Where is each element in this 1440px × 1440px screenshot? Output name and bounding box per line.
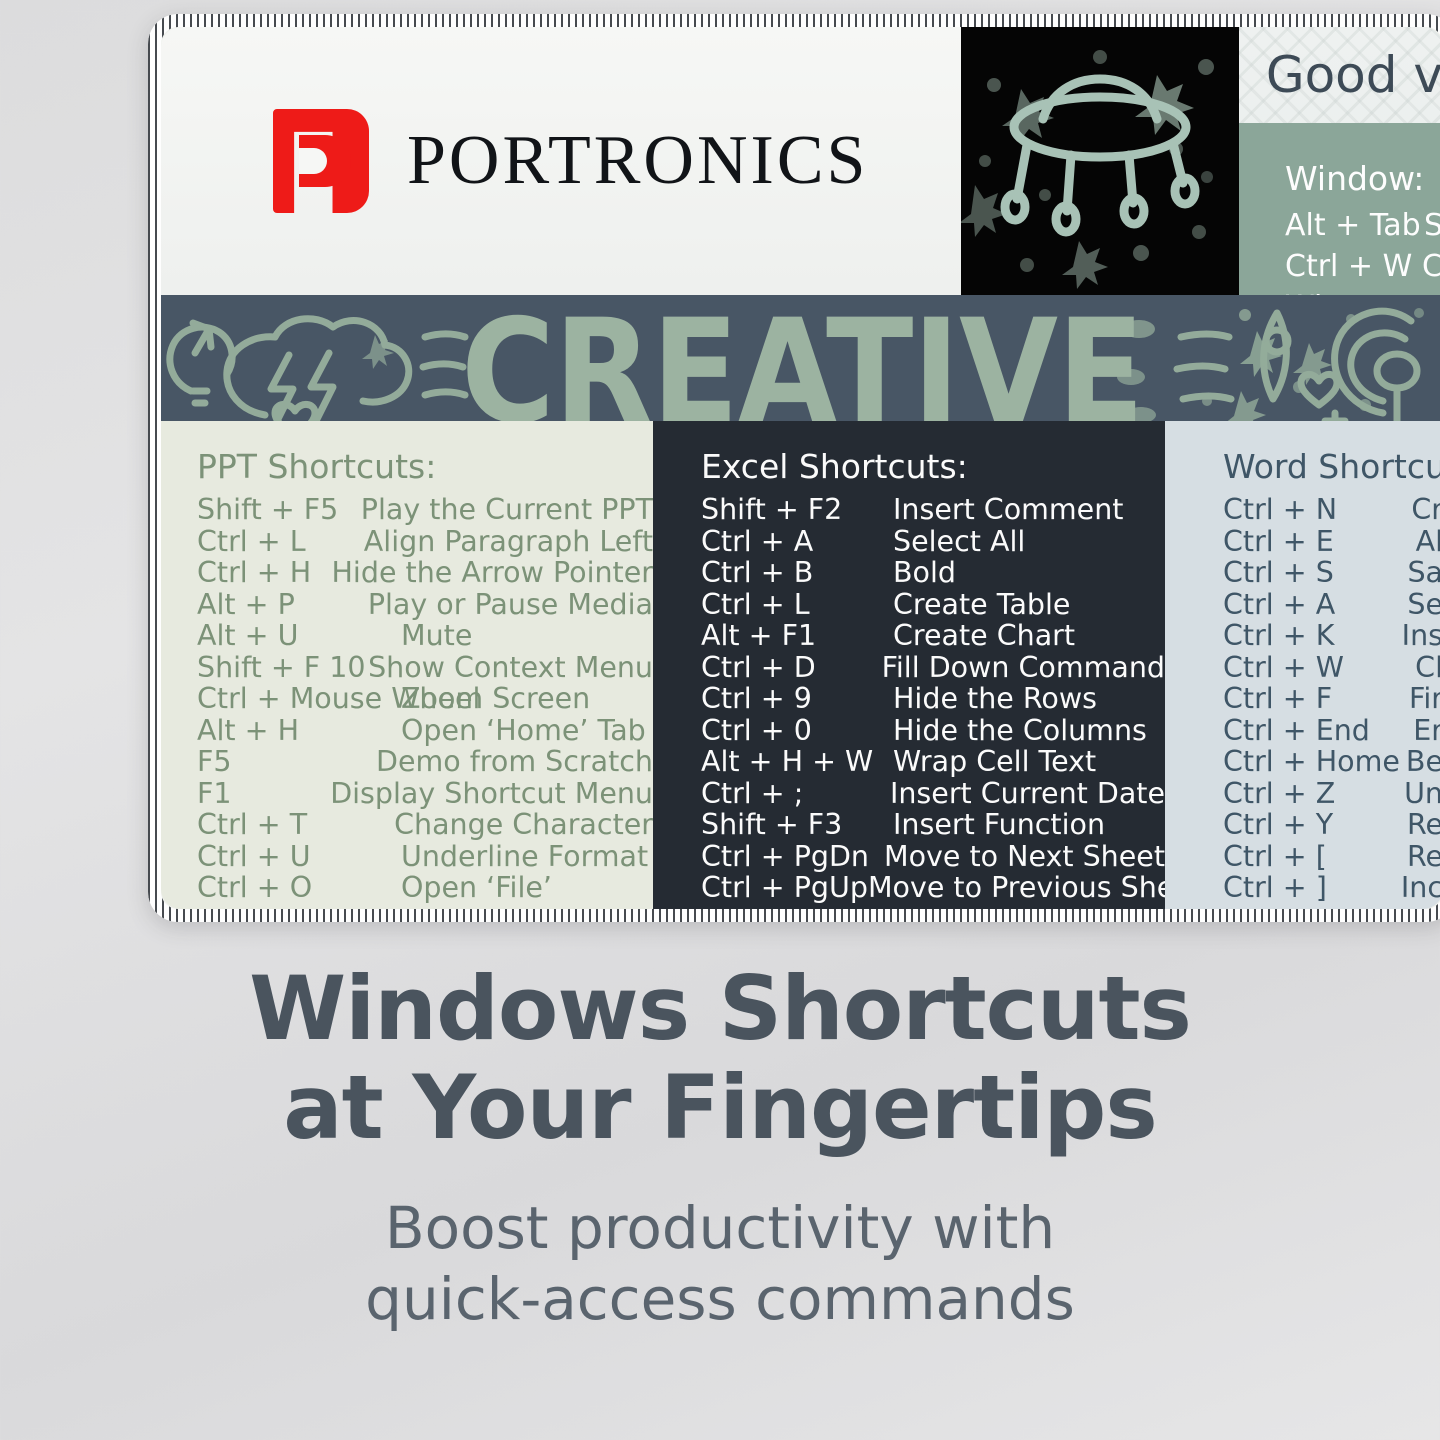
shortcut-keys: Shift + F5 xyxy=(197,496,361,525)
shortcut-keys: Ctrl + W xyxy=(1285,249,1422,284)
shortcut-action: Fill Down Command xyxy=(882,654,1165,683)
title-line-2: at Your Fingertips xyxy=(283,1056,1156,1159)
shortcut-keys: Alt + H xyxy=(197,717,401,746)
shortcut-row: Ctrl + HHide the Arrow Pointer xyxy=(197,559,653,588)
shortcut-row: Ctrl + ]Inc xyxy=(1223,874,1440,903)
shortcut-action: Demo from Scratch xyxy=(376,748,653,777)
shortcut-action: Play or Pause Media xyxy=(368,591,653,620)
shortcut-row: Ctrl + ASelect All xyxy=(701,528,1165,557)
shortcut-row: Ctrl + YRe xyxy=(1223,811,1440,840)
shortcut-action: Select All xyxy=(893,528,1025,557)
mousepad-product-image: PORTRONICS xyxy=(148,14,1440,922)
shortcut-action: Cr xyxy=(1411,496,1440,525)
shortcut-action: Move to Previous Sheet xyxy=(868,874,1165,903)
shortcut-action: Re xyxy=(1407,811,1440,840)
shortcut-keys: Alt + Tab xyxy=(1285,208,1424,243)
shortcut-action: Insert Current Date xyxy=(890,780,1165,809)
shortcut-keys: Ctrl + End xyxy=(1223,717,1413,746)
page-title: Windows Shortcuts at Your Fingertips xyxy=(0,960,1440,1157)
shortcut-keys: Ctrl + N xyxy=(1223,496,1411,525)
ppt-shortcut-rows: Shift + F5Play the Current PPTCtrl + LAl… xyxy=(161,496,653,903)
shortcut-row: Shift + F 10Show Context Menu xyxy=(197,654,653,683)
shortcut-row: Ctrl + KIns xyxy=(1223,622,1440,651)
shortcut-row: Ctrl + ZUn xyxy=(1223,780,1440,809)
shortcut-row: Ctrl + EndEr xyxy=(1223,717,1440,746)
shortcut-keys: Ctrl + H xyxy=(197,559,332,588)
shortcut-action: Underline Format xyxy=(401,843,648,872)
shortcut-action: Show Context Menu xyxy=(368,654,653,683)
creative-banner-word: CREATIVE xyxy=(461,295,1144,421)
shortcut-keys: Ctrl + W xyxy=(1223,654,1415,683)
shortcut-action: Open ‘File’ xyxy=(401,874,552,903)
shortcut-row: Ctrl + BBold xyxy=(701,559,1165,588)
shortcut-keys: Alt + U xyxy=(197,622,401,651)
shortcut-keys: Ctrl + U xyxy=(197,843,401,872)
shortcut-keys: Ctrl + B xyxy=(701,559,893,588)
shortcut-keys: Ctrl + ] xyxy=(1223,874,1401,903)
mousepad-printed-surface: PORTRONICS xyxy=(161,27,1440,909)
shortcut-row: Ctrl + ASe xyxy=(1223,591,1440,620)
window-panel-heading: Window: xyxy=(1285,159,1440,198)
shortcut-row: Alt + UMute xyxy=(197,622,653,651)
shortcut-row: Shift + F5Play the Current PPT xyxy=(197,496,653,525)
shortcut-keys: Ctrl + Home xyxy=(1223,748,1406,777)
portronics-p-logo-icon xyxy=(273,109,369,213)
shortcut-action: Align Paragraph Left xyxy=(364,528,653,557)
marketing-caption: Windows Shortcuts at Your Fingertips Boo… xyxy=(0,960,1440,1335)
shortcut-row: Ctrl + UUnderline Format xyxy=(197,843,653,872)
shortcut-row: F1Display Shortcut Menu xyxy=(197,780,653,809)
shortcut-keys: Ctrl + 9 xyxy=(701,685,893,714)
good-tile-title: Good v xyxy=(1252,46,1440,104)
title-line-1: Windows Shortcuts xyxy=(249,957,1191,1060)
shortcut-action: Create Table xyxy=(893,591,1070,620)
shortcut-row: Ctrl + FFir xyxy=(1223,685,1440,714)
shortcut-row: Shift + F2Insert Comment xyxy=(701,496,1165,525)
shortcut-row: Shift + F3Insert Function xyxy=(701,811,1165,840)
shortcut-keys: F1 xyxy=(197,780,330,809)
shortcut-keys: Ctrl + S xyxy=(1223,559,1407,588)
word-panel-heading: Word Shortcuts: xyxy=(1223,447,1440,486)
shortcut-action: Fir xyxy=(1409,685,1440,714)
shortcut-row: Ctrl + HomeBe xyxy=(1223,748,1440,777)
shortcut-keys: Ctrl + 0 xyxy=(701,717,893,746)
brand-logo-block: PORTRONICS xyxy=(161,27,961,295)
shortcut-keys: Ctrl + F xyxy=(1223,685,1409,714)
good-vibes-tile: Good v Window: Alt + TabSCtrl + WCWin + … xyxy=(1239,27,1440,295)
shortcut-row: Ctrl + TChange Character xyxy=(197,811,653,840)
shortcut-keys: Ctrl + ; xyxy=(701,780,890,809)
shortcut-action: Bold xyxy=(893,559,956,588)
shortcut-keys: Ctrl + A xyxy=(1223,591,1407,620)
shortcut-keys: Ctrl + Z xyxy=(1223,780,1404,809)
shortcut-keys: Shift + F2 xyxy=(701,496,893,525)
shortcut-keys: Ctrl + T xyxy=(197,811,394,840)
shortcut-action: Change Character xyxy=(394,811,653,840)
shortcut-action: Zoom Screen xyxy=(401,685,590,714)
creative-doodle-banner: CREATIVE xyxy=(161,295,1440,421)
shortcut-action: Sa xyxy=(1407,559,1440,588)
shortcut-row: Alt + TabS xyxy=(1285,208,1440,243)
shortcut-row: Ctrl + PgUpMove to Previous Sheet xyxy=(701,874,1165,903)
shortcut-action: Insert Function xyxy=(893,811,1105,840)
shortcut-action: Be xyxy=(1406,748,1440,777)
shortcut-action: Se xyxy=(1407,591,1440,620)
window-shortcuts-panel: Window: Alt + TabSCtrl + WCWin + ↑↓←→SAl… xyxy=(1239,123,1440,295)
shortcut-action: Wrap Cell Text xyxy=(893,748,1096,777)
excel-shortcuts-panel: Excel Shortcuts: Shift + F2Insert Commen… xyxy=(653,421,1165,909)
brand-name: PORTRONICS xyxy=(407,121,868,201)
shortcut-row: F5Demo from Scratch xyxy=(197,748,653,777)
shortcut-row: Ctrl + LAlign Paragraph Left xyxy=(197,528,653,557)
shortcut-row: Ctrl + LCreate Table xyxy=(701,591,1165,620)
header-row: PORTRONICS xyxy=(161,27,1440,295)
shortcut-keys: Ctrl + A xyxy=(701,528,893,557)
subtitle-line-2: quick-access commands xyxy=(365,1265,1075,1333)
shortcut-keys: Ctrl + PgDn xyxy=(701,843,884,872)
shortcut-row: Alt + F1Create Chart xyxy=(701,622,1165,651)
window-shortcut-rows: Alt + TabSCtrl + WCWin + ↑↓←→SAlt + F4CW… xyxy=(1239,208,1440,295)
shortcut-row: Ctrl + [Re xyxy=(1223,843,1440,872)
shortcut-row: Ctrl + Mouse WheelZoom Screen xyxy=(197,685,653,714)
shortcut-row: Ctrl + NCr xyxy=(1223,496,1440,525)
shortcut-action: Un xyxy=(1404,780,1440,809)
ppt-shortcuts-panel: PPT Shortcuts: Shift + F5Play the Curren… xyxy=(161,421,653,909)
excel-shortcut-rows: Shift + F2Insert CommentCtrl + ASelect A… xyxy=(653,496,1165,903)
shortcut-action: Hide the Rows xyxy=(893,685,1097,714)
shortcut-panels-row: PPT Shortcuts: Shift + F5Play the Curren… xyxy=(161,421,1440,909)
shortcut-keys: Ctrl + L xyxy=(701,591,893,620)
shortcut-row: Ctrl + EAl xyxy=(1223,528,1440,557)
excel-panel-heading: Excel Shortcuts: xyxy=(701,447,1165,486)
shortcut-keys: Ctrl + E xyxy=(1223,528,1416,557)
subtitle-line-1: Boost productivity with xyxy=(385,1194,1055,1262)
shortcut-row: Ctrl + PgDnMove to Next Sheet xyxy=(701,843,1165,872)
shortcut-action: Play the Current PPT xyxy=(361,496,653,525)
shortcut-action: Display Shortcut Menu xyxy=(330,780,653,809)
shortcut-keys: Ctrl + O xyxy=(197,874,401,903)
shortcut-row: Ctrl + SSa xyxy=(1223,559,1440,588)
shortcut-action: Create Chart xyxy=(893,622,1075,651)
shortcut-keys: Ctrl + [ xyxy=(1223,843,1407,872)
page-subtitle: Boost productivity with quick-access com… xyxy=(0,1193,1440,1335)
ufo-doodle-icon xyxy=(961,27,1239,295)
shortcut-row: Alt + PPlay or Pause Media xyxy=(197,591,653,620)
shortcut-row: Ctrl + DFill Down Command xyxy=(701,654,1165,683)
shortcut-action: Cl xyxy=(1415,654,1440,683)
shortcut-keys: Ctrl + PgUp xyxy=(701,874,868,903)
shortcut-row: Ctrl + ;Insert Current Date xyxy=(701,780,1165,809)
shortcut-action: Inc xyxy=(1401,874,1440,903)
shortcut-keys: Shift + F 10 xyxy=(197,654,368,683)
shortcut-keys: Ctrl + Mouse Wheel xyxy=(197,685,401,714)
shortcut-action: C xyxy=(1422,249,1440,284)
shortcut-row: Ctrl + WC xyxy=(1285,249,1440,284)
shortcut-keys: Ctrl + K xyxy=(1223,622,1402,651)
shortcut-action: Ins xyxy=(1402,622,1440,651)
shortcut-row: Alt + HOpen ‘Home’ Tab xyxy=(197,717,653,746)
shortcut-row: Alt + H + WWrap Cell Text xyxy=(701,748,1165,777)
shortcut-row: Ctrl + 0Hide the Columns xyxy=(701,717,1165,746)
shortcut-keys: Alt + F1 xyxy=(701,622,893,651)
shortcut-keys: Ctrl + L xyxy=(197,528,364,557)
shortcut-action: Hide the Arrow Pointer xyxy=(332,559,654,588)
ppt-panel-heading: PPT Shortcuts: xyxy=(197,447,653,486)
shortcut-action: Re xyxy=(1407,843,1440,872)
shortcut-row: Ctrl + OOpen ‘File’ xyxy=(197,874,653,903)
shortcut-keys: F5 xyxy=(197,748,376,777)
shortcut-action: S xyxy=(1424,208,1440,243)
word-shortcut-rows: Ctrl + NCrCtrl + EAlCtrl + SSaCtrl + ASe… xyxy=(1165,496,1440,903)
shortcut-action: Insert Comment xyxy=(893,496,1123,525)
shortcut-row: Ctrl + 9Hide the Rows xyxy=(701,685,1165,714)
shortcut-keys: Shift + F3 xyxy=(701,811,893,840)
shortcut-action: Move to Next Sheet xyxy=(884,843,1165,872)
word-shortcuts-panel: Word Shortcuts: Ctrl + NCrCtrl + EAlCtrl… xyxy=(1165,421,1440,909)
shortcut-keys: Ctrl + D xyxy=(701,654,882,683)
shortcut-action: Open ‘Home’ Tab xyxy=(401,717,646,746)
shortcut-keys: Ctrl + Y xyxy=(1223,811,1407,840)
shortcut-action: Hide the Columns xyxy=(893,717,1147,746)
shortcut-keys: Alt + P xyxy=(197,591,368,620)
shortcut-row: Ctrl + WCl xyxy=(1223,654,1440,683)
shortcut-action: Mute xyxy=(401,622,472,651)
shortcut-action: Al xyxy=(1416,528,1440,557)
shortcut-keys: Alt + H + W xyxy=(701,748,893,777)
shortcut-action: Er xyxy=(1413,717,1440,746)
